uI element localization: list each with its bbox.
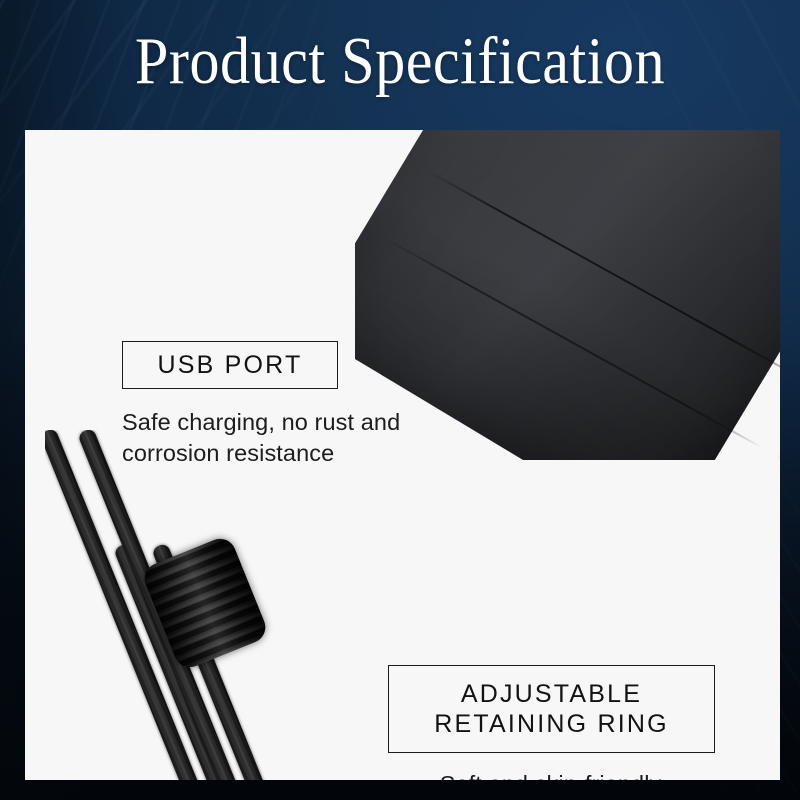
page-title: Product Specification [40, 28, 760, 95]
callout-retaining-ring-heading-line-1: ADJUSTABLE [434, 679, 669, 710]
callout-usb-port-body: Safe charging, no rust and corrosion res… [122, 407, 462, 469]
callout-usb-port-body-line-2: corrosion resistance [122, 438, 462, 469]
callout-usb-port-box: USB PORT [122, 341, 338, 389]
callout-retaining-ring-heading-line-2: RETAINING RING [434, 709, 669, 740]
retaining-ring-photo [45, 430, 375, 780]
callout-retaining-ring-heading: ADJUSTABLE RETAINING RING [434, 679, 669, 740]
callout-retaining-ring-body-line-1: Soft and skin-friendly, [388, 769, 718, 780]
callout-retaining-ring-box: ADJUSTABLE RETAINING RING [388, 665, 715, 753]
content-panel: USB PORT Safe charging, no rust and corr… [25, 130, 780, 780]
chrome-accent-shadow [760, 366, 780, 460]
callout-retaining-ring: ADJUSTABLE RETAINING RING Soft and skin-… [388, 665, 718, 780]
callout-usb-port-heading: USB PORT [158, 350, 303, 381]
callout-usb-port: USB PORT Safe charging, no rust and corr… [122, 341, 462, 469]
product-specification-page: Product Specification [0, 0, 800, 800]
callout-retaining-ring-body: Soft and skin-friendly, comfortable to w… [388, 769, 718, 780]
callout-usb-port-body-line-1: Safe charging, no rust and [122, 407, 462, 438]
